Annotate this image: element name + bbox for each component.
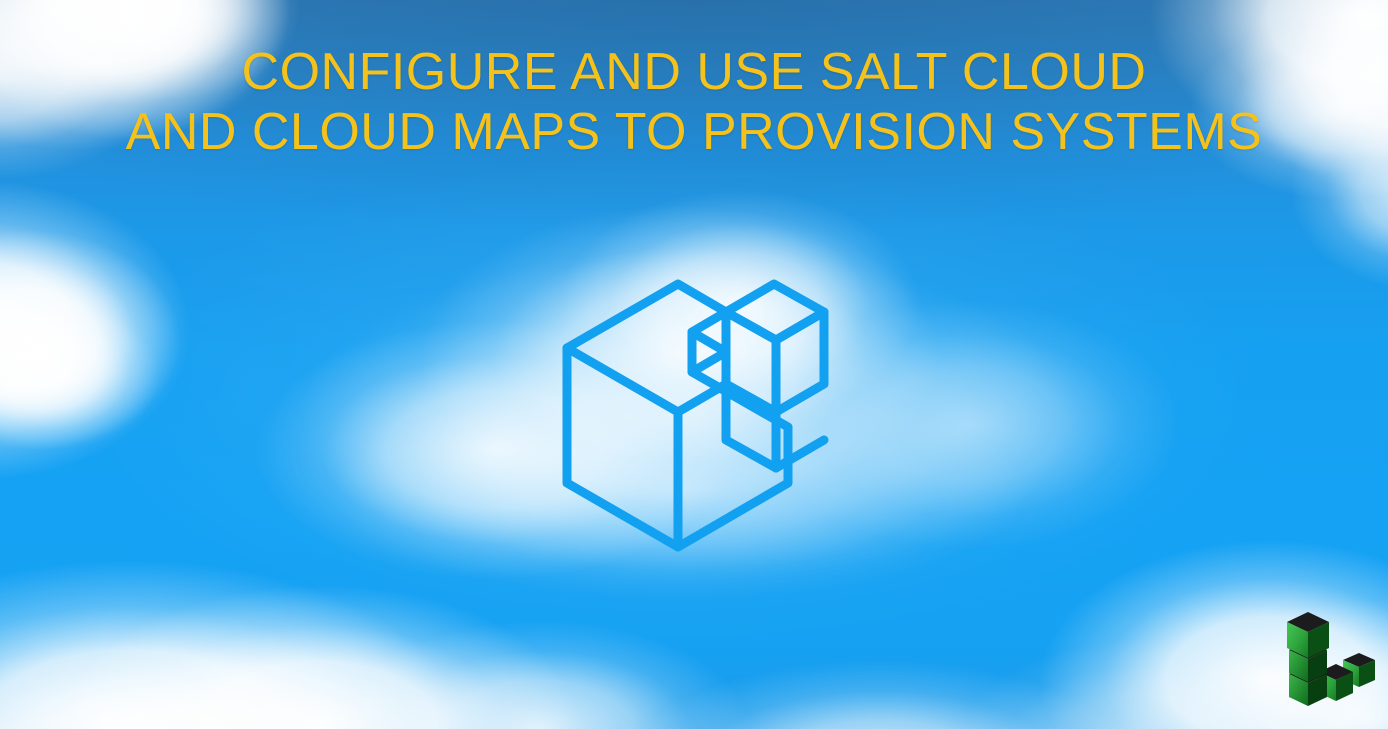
salt-cloud-cube-icon <box>540 255 840 555</box>
salt-cloud-cube-logo <box>540 255 840 555</box>
slide-root: CONFIGURE AND USE SALT CLOUD AND CLOUD M… <box>0 0 1388 729</box>
slide-title: CONFIGURE AND USE SALT CLOUD AND CLOUD M… <box>0 42 1388 162</box>
title-line-2: AND CLOUD MAPS TO PROVISION SYSTEMS <box>0 102 1388 162</box>
title-line-1: CONFIGURE AND USE SALT CLOUD <box>0 42 1388 102</box>
saltstack-green-cubes-logo <box>1281 608 1381 708</box>
saltstack-cubes-icon <box>1281 608 1381 708</box>
